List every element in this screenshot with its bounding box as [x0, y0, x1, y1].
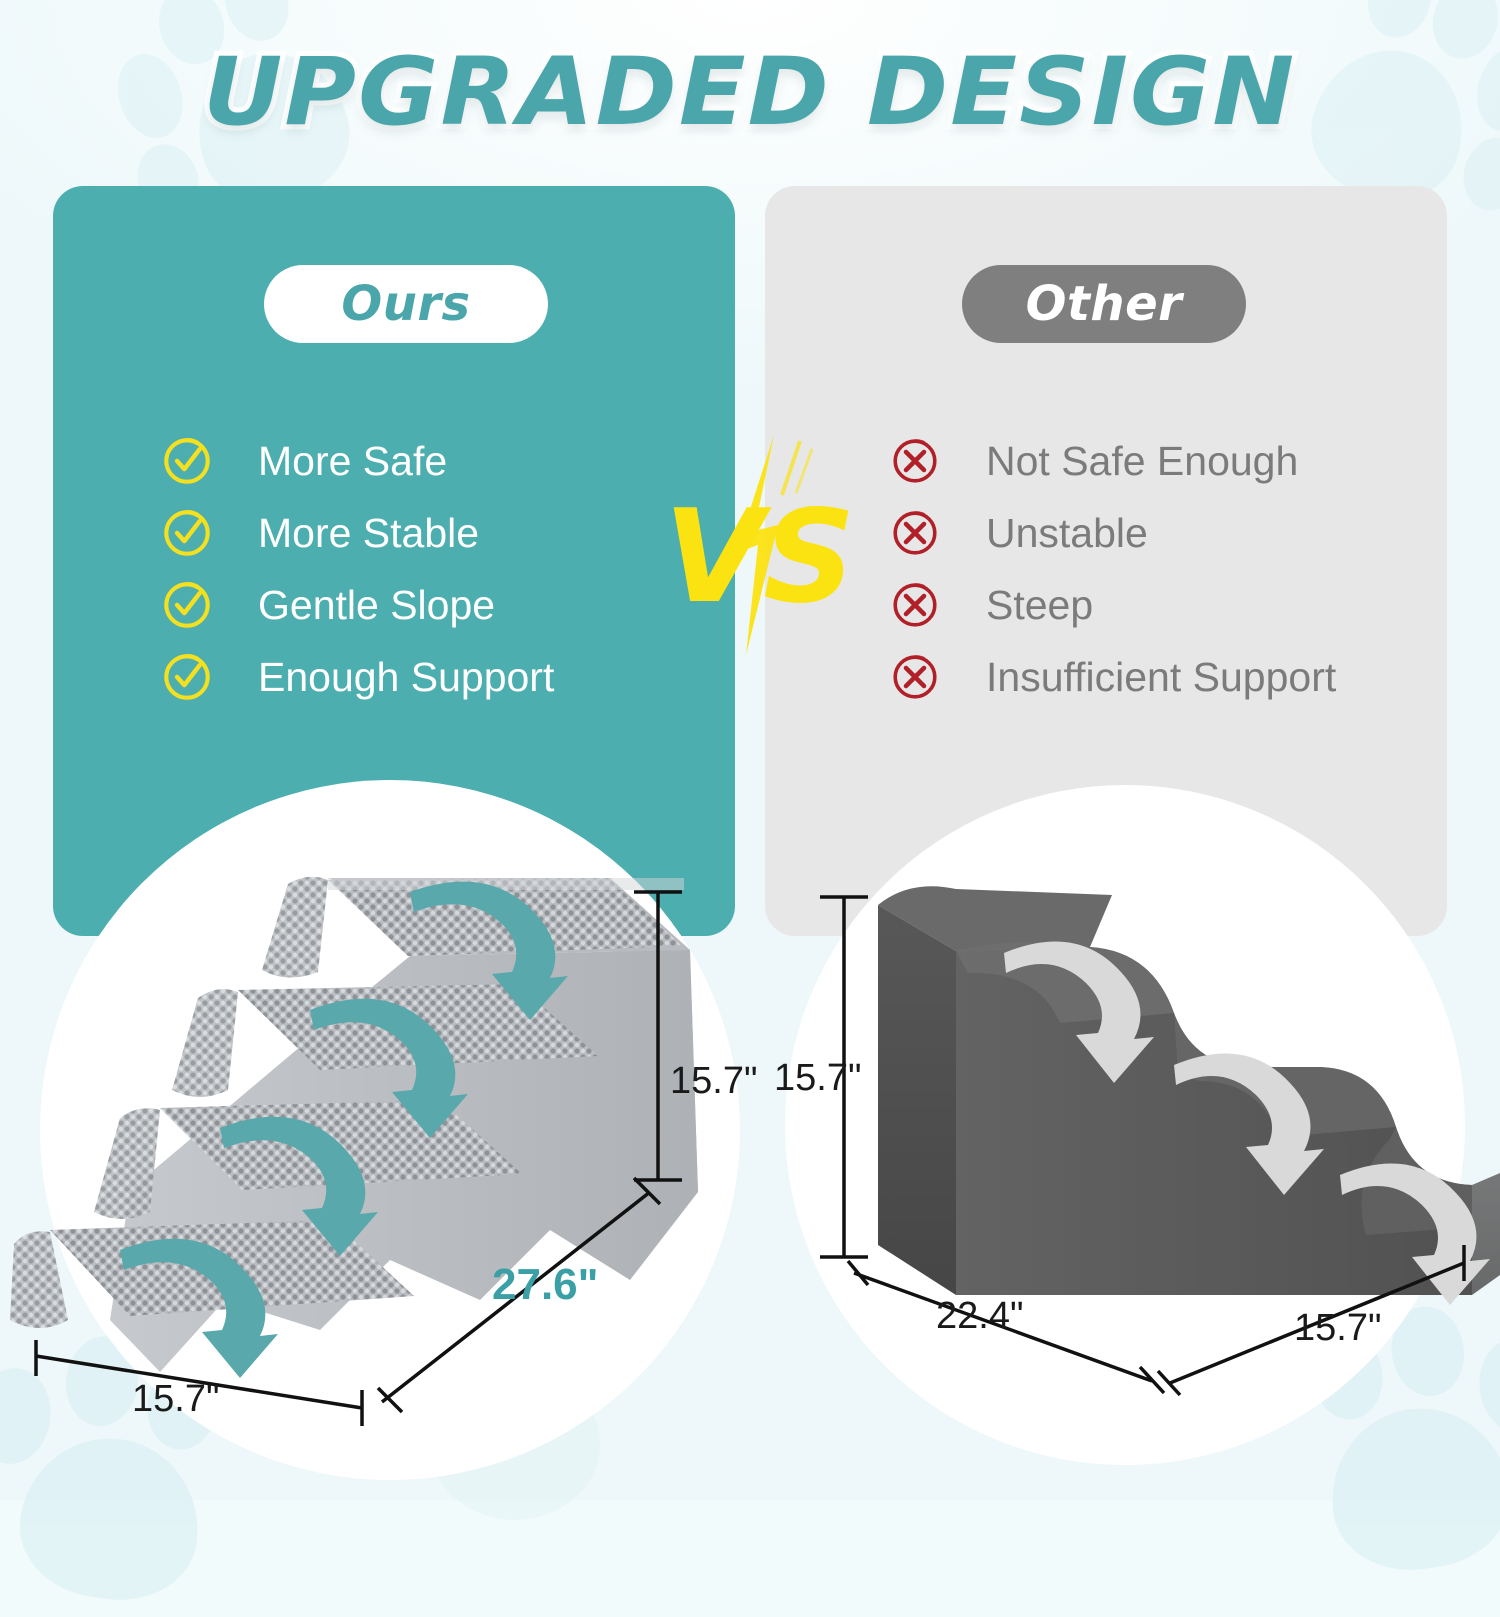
list-item: Enough Support [160, 641, 680, 713]
feature-label: Unstable [986, 510, 1148, 557]
page-title: UPGRADED DESIGN [203, 38, 1296, 147]
feature-label: Enough Support [258, 654, 554, 701]
other-product-illustration: 15.7" 22.4" 15.7" [760, 775, 1500, 1475]
other-pet-stairs-graphic [760, 775, 1500, 1475]
ours-header-pill: Ours [264, 265, 548, 343]
feature-label: Insufficient Support [986, 654, 1336, 701]
feature-label: Not Safe Enough [986, 438, 1298, 485]
list-item: More Safe [160, 425, 680, 497]
other-depth-dimension: 22.4" [936, 1295, 1023, 1338]
vs-divider-badge: VS [650, 435, 850, 655]
feature-label: More Safe [258, 438, 447, 485]
other-pill-label: Other [1026, 276, 1183, 332]
svg-text:VS: VS [664, 483, 850, 632]
check-circle-icon [160, 650, 214, 704]
check-circle-icon [160, 578, 214, 632]
list-item: Steep [888, 569, 1408, 641]
ours-feature-list: More Safe More Stable Gentle Slope [160, 425, 680, 713]
cross-circle-icon [888, 650, 942, 704]
ours-width-dimension: 15.7" [132, 1378, 219, 1421]
feature-label: Gentle Slope [258, 582, 495, 629]
other-feature-list: Not Safe Enough Unstable Steep [888, 425, 1408, 713]
cross-circle-icon [888, 578, 942, 632]
ours-depth-dimension: 27.6" [492, 1260, 599, 1310]
cross-circle-icon [888, 434, 942, 488]
other-header-pill: Other [962, 265, 1246, 343]
ours-product-illustration: 15.7" 15.7" 27.6" [10, 760, 750, 1490]
list-item: Insufficient Support [888, 641, 1408, 713]
list-item: Unstable [888, 497, 1408, 569]
ours-pill-label: Ours [341, 276, 470, 332]
list-item: More Stable [160, 497, 680, 569]
other-width-dimension: 15.7" [1294, 1307, 1381, 1350]
page-title-container: UPGRADED DESIGN [0, 38, 1500, 147]
feature-label: More Stable [258, 510, 479, 557]
list-item: Not Safe Enough [888, 425, 1408, 497]
cross-circle-icon [888, 506, 942, 560]
ours-pet-stairs-graphic [10, 760, 750, 1490]
list-item: Gentle Slope [160, 569, 680, 641]
check-circle-icon [160, 506, 214, 560]
other-height-dimension: 15.7" [774, 1057, 861, 1100]
feature-label: Steep [986, 582, 1093, 629]
check-circle-icon [160, 434, 214, 488]
ours-height-dimension: 15.7" [670, 1060, 757, 1103]
